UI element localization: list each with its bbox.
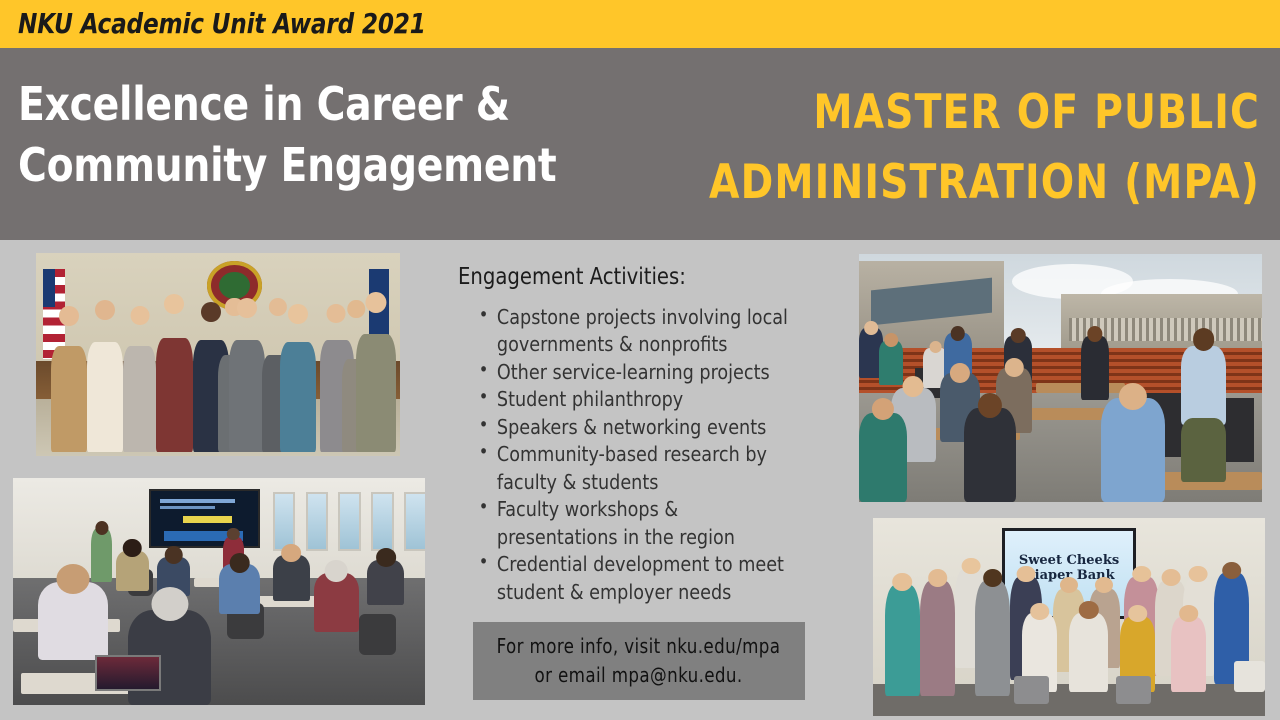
photo-diaper-bank-group: Sweet Cheeks Diaper Bank (873, 518, 1265, 716)
title-banner: Excellence in Career & Community Engagem… (0, 48, 1280, 240)
more-info-text: For more info, visit nku.edu/mpa or emai… (497, 632, 781, 690)
award-band: NKU Academic Unit Award 2021 (0, 0, 1280, 48)
laptop-icon (95, 655, 161, 691)
list-item: Faculty workshops & presentations in the… (474, 496, 799, 551)
award-band-title: NKU Academic Unit Award 2021 (18, 7, 426, 40)
program-name-title: MASTER OF PUBLIC ADMINISTRATION (MPA) (702, 78, 1260, 217)
photo-rooftop-event (859, 254, 1262, 502)
award-category-title: Excellence in Career & Community Engagem… (18, 74, 607, 195)
screen-line-1: Sweet Cheeks (1019, 553, 1119, 568)
photo-council-chamber (36, 253, 400, 456)
more-info-line-2: or email mpa@nku.edu. (535, 663, 743, 687)
list-item: Student philanthropy (474, 386, 799, 413)
list-item: Credential development to meet student &… (474, 551, 799, 606)
more-info-box: For more info, visit nku.edu/mpa or emai… (473, 622, 805, 700)
list-item: Speakers & networking events (474, 414, 799, 441)
list-item: Other service-learning projects (474, 359, 799, 386)
list-item: Capstone projects involving local govern… (474, 304, 799, 359)
more-info-line-1: For more info, visit nku.edu/mpa (497, 634, 781, 658)
engagement-activities-list: Capstone projects involving local govern… (474, 304, 814, 606)
engagement-activities-heading: Engagement Activities: (458, 264, 686, 290)
presentation-screen-icon (149, 489, 260, 548)
list-item: Community-based research by faculty & st… (474, 441, 799, 496)
photo-classroom-session (13, 478, 425, 705)
